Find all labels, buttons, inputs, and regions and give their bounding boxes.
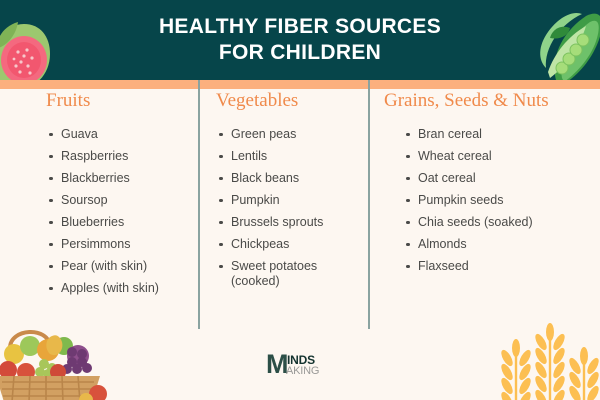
- list-item-label: Wheat cereal: [418, 149, 586, 164]
- list-item: Soursop: [46, 193, 196, 208]
- list-item: Raspberries: [46, 149, 196, 164]
- list-item-label: Chia seeds (soaked): [418, 215, 586, 230]
- page-title: HEALTHY FIBER SOURCES FOR CHILDREN: [0, 14, 600, 66]
- list-item: Black beans: [216, 171, 366, 186]
- list-item: Lentils: [216, 149, 366, 164]
- list-item-label: Chickpeas: [231, 237, 366, 252]
- list-item: Blueberries: [46, 215, 196, 230]
- header-banner: HEALTHY FIBER SOURCES FOR CHILDREN: [0, 0, 600, 80]
- list-item: Chia seeds (soaked): [403, 215, 586, 230]
- list-item-label: Bran cereal: [418, 127, 586, 142]
- list-item-label: Soursop: [61, 193, 196, 208]
- list-item-label: Black beans: [231, 171, 366, 186]
- column-divider-2: [368, 80, 370, 329]
- list-item: Almonds: [403, 237, 586, 252]
- column-divider-1: [198, 80, 200, 329]
- list-item: Flaxseed: [403, 259, 586, 274]
- list-item-label: Persimmons: [61, 237, 196, 252]
- column-grains-seeds-nuts: Grains, Seeds & Nuts Bran cereal Wheat c…: [386, 89, 586, 281]
- list-item: Blackberries: [46, 171, 196, 186]
- list-item-label: Blueberries: [61, 215, 196, 230]
- list-item: Pear (with skin): [46, 259, 196, 274]
- list-item: Sweet potatoes (cooked): [216, 259, 366, 289]
- brand-logo-line-2: AKING: [286, 366, 319, 377]
- list-item: Pumpkin: [216, 193, 366, 208]
- list-item-label: Brussels sprouts: [231, 215, 366, 230]
- list-item-label: Oat cereal: [418, 171, 586, 186]
- list-fruits: Guava Raspberries Blackberries Soursop B…: [46, 127, 196, 296]
- list-item-label: Flaxseed: [418, 259, 586, 274]
- list-item: Apples (with skin): [46, 281, 196, 296]
- list-item: Bran cereal: [403, 127, 586, 142]
- list-item: Wheat cereal: [403, 149, 586, 164]
- page-title-line-1: HEALTHY FIBER SOURCES: [159, 15, 441, 38]
- column-title-fruits: Fruits: [46, 89, 196, 113]
- columns-container: Fruits Guava Raspberries Blackberries So…: [0, 89, 600, 339]
- list-item: Brussels sprouts: [216, 215, 366, 230]
- list-grains-seeds-nuts: Bran cereal Wheat cereal Oat cereal Pump…: [403, 127, 586, 274]
- list-item-label: Almonds: [418, 237, 586, 252]
- list-item-label: Green peas: [231, 127, 366, 142]
- list-item: Guava: [46, 127, 196, 142]
- list-item-label: Raspberries: [61, 149, 196, 164]
- infographic-poster: HEALTHY FIBER SOURCES FOR CHILDREN Fruit…: [0, 0, 600, 400]
- list-item-label: Lentils: [231, 149, 366, 164]
- list-item: Chickpeas: [216, 237, 366, 252]
- list-item: Persimmons: [46, 237, 196, 252]
- list-item-label: Pumpkin: [231, 193, 366, 208]
- brand-logo: M INDS AKING: [0, 352, 600, 382]
- column-title-grains-seeds-nuts: Grains, Seeds & Nuts: [384, 89, 586, 113]
- list-vegetables: Green peas Lentils Black beans Pumpkin B…: [216, 127, 366, 289]
- list-item-label: Guava: [61, 127, 196, 142]
- list-item-label: Pear (with skin): [61, 259, 196, 274]
- list-item: Pumpkin seeds: [403, 193, 586, 208]
- column-vegetables: Vegetables Green peas Lentils Black bean…: [216, 89, 366, 296]
- list-item-label: Pumpkin seeds: [418, 193, 586, 208]
- accent-band: [0, 80, 600, 89]
- brand-logo-lockup: M INDS AKING: [266, 352, 334, 380]
- list-item-label: Blackberries: [61, 171, 196, 186]
- list-item: Green peas: [216, 127, 366, 142]
- list-item: Oat cereal: [403, 171, 586, 186]
- list-item-label: Sweet potatoes (cooked): [231, 259, 366, 289]
- list-item-label: Apples (with skin): [61, 281, 196, 296]
- column-title-vegetables: Vegetables: [216, 89, 366, 113]
- column-fruits: Fruits Guava Raspberries Blackberries So…: [46, 89, 196, 303]
- page-title-line-2: FOR CHILDREN: [0, 40, 600, 66]
